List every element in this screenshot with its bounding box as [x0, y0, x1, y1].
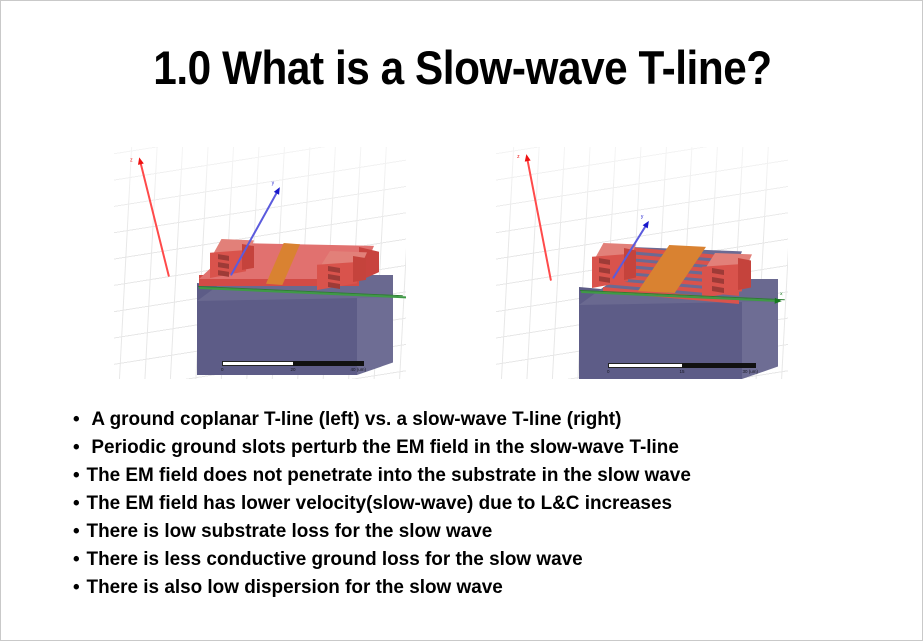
ridge-end-face [738, 258, 751, 290]
list-item-text: There is low substrate loss for the slow… [87, 520, 493, 542]
list-item: • The EM field has lower velocity(slow-w… [71, 489, 847, 517]
bullet-glyph: • [73, 405, 80, 433]
z-axis-label: z [130, 159, 133, 164]
em-simulation-viewport-right: z y x 0 15 [496, 147, 788, 379]
bullet-glyph: • [73, 517, 80, 545]
ridge-end-face [624, 248, 636, 280]
scale-bar-right: 0 15 30 (um) [608, 363, 756, 368]
scale-tick-middle: 20 [290, 367, 295, 372]
scale-bar-black-half [293, 361, 364, 366]
scale-tick-end: 30 (um) [742, 369, 758, 374]
scale-tick-middle: 15 [679, 369, 684, 374]
y-axis-label: y [641, 215, 644, 220]
bullet-glyph: • [73, 545, 80, 573]
list-item-text: A ground coplanar T-line (left) vs. a sl… [91, 408, 621, 430]
list-item-text: There is less conductive ground loss for… [87, 548, 583, 570]
z-axis-arrowhead [523, 154, 530, 162]
list-item: • There is also low dispersion for the s… [71, 573, 847, 601]
list-item: • There is low substrate loss for the sl… [71, 517, 847, 545]
bullet-glyph: • [73, 461, 80, 489]
list-item: • The EM field does not penetrate into t… [71, 461, 847, 489]
z-axis-arrowhead [136, 157, 144, 165]
x-axis-arrowhead [775, 297, 782, 303]
list-item-text: There is also low dispersion for the slo… [87, 576, 503, 598]
scale-tick-start: 0 [607, 369, 610, 374]
figure-slow-wave-tline: z y x 0 15 [496, 147, 788, 379]
scale-tick-start: 0 [221, 367, 224, 372]
scale-bar-left: 0 20 40 (um) [222, 361, 364, 366]
scale-bar-white-half [608, 363, 682, 368]
x-axis-label: x [780, 292, 783, 297]
list-item: • There is less conductive ground loss f… [71, 545, 847, 573]
scale-bar-white-half [222, 361, 293, 366]
bullet-glyph: • [73, 433, 80, 461]
scale-bar-black-half [682, 363, 756, 368]
list-item: • A ground coplanar T-line (left) vs. a … [71, 405, 847, 433]
em-simulation-viewport-left: z y x 0 20 [114, 147, 406, 379]
list-item-text: The EM field does not penetrate into the… [87, 464, 691, 486]
bullet-list: • A ground coplanar T-line (left) vs. a … [71, 405, 871, 601]
figure-row: z y x 0 20 [114, 147, 814, 379]
ridge-end-face [353, 256, 366, 282]
scale-tick-end: 40 (um) [350, 367, 366, 372]
bullet-glyph: • [73, 489, 80, 517]
page-title: 1.0 What is a Slow-wave T-line? [47, 39, 878, 97]
bullet-glyph: • [73, 573, 80, 601]
figure-ground-coplanar-tline: z y x 0 20 [114, 147, 406, 379]
presentation-slide: 1.0 What is a Slow-wave T-line? [0, 0, 923, 641]
list-item-text: The EM field has lower velocity(slow-wav… [87, 492, 672, 514]
list-item-text: Periodic ground slots perturb the EM fie… [91, 436, 678, 458]
list-item: • Periodic ground slots perturb the EM f… [71, 433, 847, 461]
z-axis-label: z [517, 155, 520, 160]
y-axis-label: y [272, 182, 275, 187]
